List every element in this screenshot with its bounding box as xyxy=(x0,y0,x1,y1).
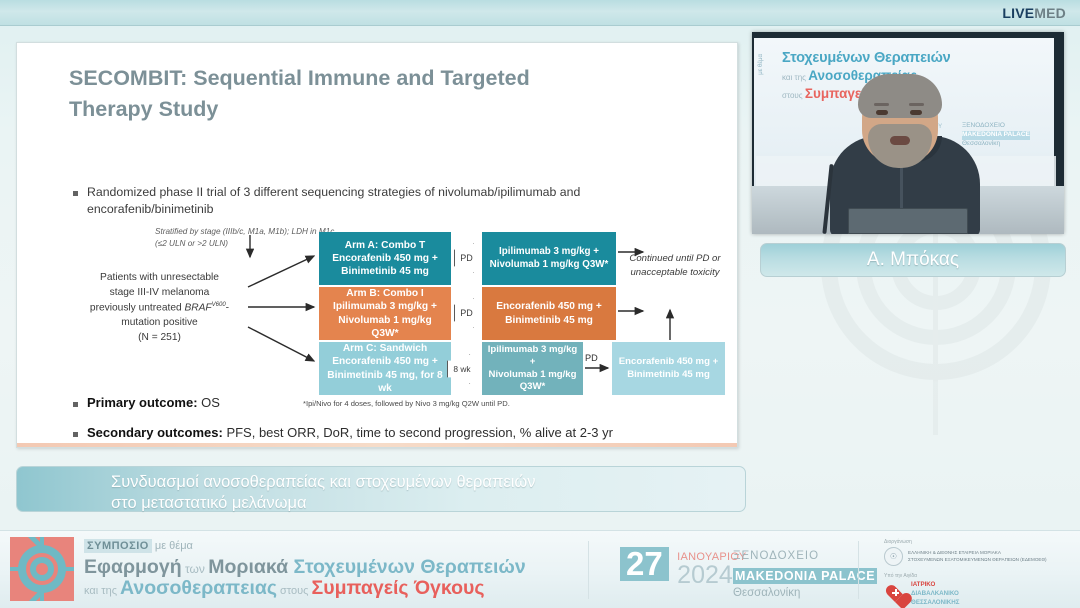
event-year: 2024 xyxy=(677,561,733,589)
livemed-logo-med: MED xyxy=(1034,5,1066,21)
venue-name: MAKEDONIA PALACE xyxy=(733,568,877,585)
event-venue-block: ΞΕΝΟΔΟΧΕΙΟ MAKEDONIA PALACE Θεσσαλονίκη xyxy=(733,549,877,602)
arm-c-third-line-box[interactable]: Encorafenib 450 mg + Binimetinib 45 mg xyxy=(612,342,725,395)
arm-b-second-line-1: Encorafenib 450 mg + xyxy=(496,301,602,312)
organizer-block: Διοργάνωση ☉ ΕΛΛΗΝΙΚΗ & ΔΙΕΘΝΗΣ ΕΤΑΙΡΕΙΑ… xyxy=(884,539,1047,566)
organizer-seal-icon: ☉ xyxy=(884,547,903,566)
symposium-title-moriaka: Μοριακά xyxy=(208,556,293,578)
slide-bullet-intro: Randomized phase II trial of 3 different… xyxy=(73,184,673,219)
arm-a-second-line-box[interactable]: Ipilimumab 3 mg/kg + Nivolumab 1 mg/kg Q… xyxy=(482,232,616,285)
aegis-name: ΙΑΤΡΙΚΟ ΔΙΑΒΑΛΚΑΝΙΚΟ ΘΕΣΣΑΛΟΝΙΚΗΣ xyxy=(911,581,959,608)
video-banner-line-3-prefix: στους xyxy=(782,91,805,100)
arm-c-transition-chevron: 8 wk xyxy=(447,354,483,384)
speaker-mouth xyxy=(890,136,910,145)
organizer-label: Διοργάνωση xyxy=(884,539,1047,545)
arm-c-third-line-2: Binimetinib 45 mg xyxy=(627,369,710,380)
arm-b-second-line-2: Binimetinib 45 mg xyxy=(505,315,593,326)
symposium-label: ΣΥΜΠΟΣΙΟ xyxy=(84,539,152,553)
symposium-label-row: ΣΥΜΠΟΣΙΟ με θέμα xyxy=(84,539,574,553)
primary-outcome-text: Primary outcome: OS xyxy=(87,395,220,410)
population-braf: BRAF xyxy=(184,302,211,313)
session-title-bar: Συνδυασμοί ανοσοθεραπείας και στοχευμένω… xyxy=(16,466,746,512)
video-banner-hotel-name: MAKEDONIA PALACE xyxy=(962,131,1030,140)
aegis-row: ΙΑΤΡΙΚΟ ΔΙΑΒΑΛΚΑΝΙΚΟ ΘΕΣΣΑΛΟΝΙΚΗΣ xyxy=(884,581,959,608)
population-line-1: Patients with unresectable xyxy=(100,272,219,283)
arm-c-drug-1: Encorafenib 450 mg + xyxy=(332,356,438,367)
slide-bullet-intro-text: Randomized phase II trial of 3 different… xyxy=(87,184,673,219)
arm-c-third-transition-label: PD xyxy=(585,353,598,363)
population-line-3b: - xyxy=(226,302,229,313)
speaker-eyebrow-right xyxy=(909,103,924,106)
speaker-name: Α. Μπόκας xyxy=(867,249,959,271)
secondary-outcome-row: Secondary outcomes: PFS, best ORR, DoR, … xyxy=(73,425,613,440)
arm-c-box[interactable]: Arm C: Sandwich Encorafenib 450 mg + Bin… xyxy=(319,342,451,395)
arm-a-second-line-1: Ipilimumab 3 mg/kg + xyxy=(499,246,599,257)
top-bar: LIVEMED xyxy=(0,0,1080,26)
arm-c-drug-2: Binimetinib 45 mg, for 8 wk xyxy=(327,370,442,394)
organizer-name-line-1: ΕΛΛΗΝΙΚΗ & ΔΙΕΘΝΗΣ ΕΤΑΙΡΕΙΑ ΜΟΡΙΑΚΑ xyxy=(908,550,1047,557)
secondary-outcome-text: Secondary outcomes: PFS, best ORR, DoR, … xyxy=(87,425,613,440)
cross-icon xyxy=(892,589,899,596)
arm-b-transition-chevron: PD xyxy=(454,298,485,328)
slide-footnote: *Ipi/Nivo for 4 doses, followed by Nivo … xyxy=(303,399,510,408)
presentation-slide[interactable]: SECOMBIT: Sequential Immune and Targeted… xyxy=(16,42,738,448)
population-line-5: (N = 251) xyxy=(138,332,181,343)
symposium-title-kai-tis: και της xyxy=(84,585,120,597)
symposium-title-line-2: και της Ανοσοθεραπειας στους Συμπαγείς Ό… xyxy=(84,578,574,599)
bullet-square-icon xyxy=(73,191,78,196)
speaker-video-feed[interactable]: με θέμα Στοχευμένων Θεραπειών και της Αν… xyxy=(752,32,1064,234)
organizer-row: ☉ ΕΛΛΗΝΙΚΗ & ΔΙΕΘΝΗΣ ΕΤΑΙΡΕΙΑ ΜΟΡΙΑΚΑ ΣΤ… xyxy=(884,547,1047,566)
arm-c-second-line-box[interactable]: Ipilimumab 3 mg/kg + Nivolumab 1 mg/kg Q… xyxy=(482,342,583,395)
arm-b-drug-2: Nivolumab 1 mg/kg Q3W* xyxy=(338,315,431,339)
aegis-name-line-3: ΘΕΣΣΑΛΟΝΙΚΗΣ xyxy=(911,599,959,608)
video-banner-hotel: ΞΕΝΟΔΟΧΕΙΟ MAKEDONIA PALACE Θεσσαλονίκη xyxy=(962,122,1030,148)
arm-a-second-line-2: Nivolumab 1 mg/kg Q3W* xyxy=(490,259,609,270)
speaker-eyebrow-left xyxy=(874,103,889,106)
symposium-title-block: ΣΥΜΠΟΣΙΟ με θέμα Εφαρμογή των Μοριακά Στ… xyxy=(84,539,574,599)
slide-bottom-accent-line xyxy=(17,443,738,447)
arm-b-drug-1: Ipilimumab 3 mg/kg + xyxy=(333,301,437,312)
venue-city: Θεσσαλονίκη xyxy=(733,586,877,602)
arm-c-name: Arm C: Sandwich xyxy=(343,343,427,354)
aegis-label: Υπό την Αιγίδα xyxy=(884,573,959,579)
secondary-outcome-label: Secondary outcomes: xyxy=(87,425,223,440)
speaker-laptop xyxy=(848,208,968,234)
arm-b-name: Arm B: Combo I xyxy=(346,288,424,299)
slide-title: SECOMBIT: Sequential Immune and Targeted… xyxy=(69,63,609,124)
aegis-block: Υπό την Αιγίδα ΙΑΤΡΙΚΟ ΔΙΑΒΑΛΚΑΝΙΚΟ ΘΕΣΣ… xyxy=(884,573,959,608)
arm-b-box[interactable]: Arm B: Combo I Ipilimumab 3 mg/kg + Nivo… xyxy=(319,287,451,340)
venue-label: ΞΕΝΟΔΟΧΕΙΟ xyxy=(733,549,877,565)
speaker-hair xyxy=(858,74,942,118)
symposium-emblem-icon xyxy=(10,537,74,601)
session-title-line-1: Συνδυασμοί ανοσοθεραπείας και στοχευμένω… xyxy=(111,472,731,493)
footer-divider-2 xyxy=(858,541,859,599)
symposium-title-sympageis: Συμπαγείς Όγκους xyxy=(312,577,485,599)
population-line-2: stage III-IV melanoma xyxy=(110,287,210,298)
organizer-name: ΕΛΛΗΝΙΚΗ & ΔΙΕΘΝΗΣ ΕΤΑΙΡΕΙΑ ΜΟΡΙΑΚΑ ΣΤΟΧ… xyxy=(908,550,1047,564)
video-banner-hotel-city: Θεσσαλονίκη xyxy=(962,140,1030,149)
secondary-outcome-value: PFS, best ORR, DoR, time to second progr… xyxy=(223,425,613,440)
speaker-eye-right xyxy=(910,110,922,115)
arm-c-second-line-2: Nivolumab 1 mg/kg xyxy=(489,369,577,380)
arm-a-transition-label: PD xyxy=(460,253,473,263)
footer-divider-1 xyxy=(588,541,589,599)
bullet-square-icon xyxy=(73,402,78,407)
arm-b-second-line-box[interactable]: Encorafenib 450 mg + Binimetinib 45 mg xyxy=(482,287,616,340)
arm-c-second-line-1: Ipilimumab 3 mg/kg + xyxy=(488,344,578,367)
arm-a-box[interactable]: Arm A: Combo T Encorafenib 450 mg + Bini… xyxy=(319,232,451,285)
symposium-title-line-1: Εφαρμογή των Μοριακά Στοχευμένων Θεραπει… xyxy=(84,557,574,578)
symposium-title-stoxeumenon: Στοχευμένων Θεραπειών xyxy=(293,556,525,578)
event-date-block: 27 ΙΑΝΟΥΑΡΙΟΥ 2024 xyxy=(620,547,747,588)
aegis-name-line-1: ΙΑΤΡΙΚΟ xyxy=(911,581,959,590)
session-title-text: Συνδυασμοί ανοσοθεραπείας και στοχευμένω… xyxy=(111,472,731,514)
arm-b-transition-label: PD xyxy=(460,308,473,318)
symposium-title-efarmogi: Εφαρμογή xyxy=(84,556,182,578)
symposium-title-stous: στους xyxy=(277,585,312,597)
event-day: 27 xyxy=(620,547,669,581)
arm-c-second-line-3: Q3W* xyxy=(520,381,546,392)
heart-cross-icon xyxy=(884,584,906,604)
population-line-3: previously untreated xyxy=(90,302,185,313)
emblem-center-dot xyxy=(36,563,48,575)
speaker-eye-left xyxy=(876,110,888,115)
population-braf-superscript: V600 xyxy=(212,302,226,308)
primary-outcome-row: Primary outcome: OS xyxy=(73,395,220,410)
symposium-label-suffix: με θέμα xyxy=(152,540,193,552)
continued-until-note: Continued until PD or unacceptable toxic… xyxy=(629,252,721,281)
stratification-note: Stratified by stage (IIIb/c, M1a, M1b); … xyxy=(155,226,340,251)
livemed-logo-live: LIVE xyxy=(1002,5,1034,21)
video-banner-line-2-prefix: και της xyxy=(782,73,808,82)
arm-a-drug-1: Encorafenib 450 mg + xyxy=(332,253,438,264)
aegis-name-line-2: ΔΙΑΒΑΛΚΑΝΙΚΟ xyxy=(911,590,959,599)
population-line-4: mutation positive xyxy=(121,317,197,328)
livemed-logo: LIVEMED xyxy=(1002,5,1066,21)
video-banner-line-1: Στοχευμένων Θεραπειών xyxy=(782,50,1052,66)
symposium-title-anosotherapeias: Ανοσοθεραπειας xyxy=(120,577,277,599)
symposium-title-ton: των xyxy=(182,562,209,576)
arm-c-third-line-1: Encorafenib 450 mg + xyxy=(619,356,718,367)
primary-outcome-label: Primary outcome: xyxy=(87,395,198,410)
population-description: Patients with unresectable stage III-IV … xyxy=(77,271,242,345)
arm-a-drug-2: Binimetinib 45 mg xyxy=(341,266,429,277)
session-title-line-2: στο μεταστατικό μελάνωμα xyxy=(111,493,731,514)
primary-outcome-value: OS xyxy=(198,395,220,410)
video-banner-hotel-label: ΞΕΝΟΔΟΧΕΙΟ xyxy=(962,122,1030,131)
bullet-square-icon xyxy=(73,432,78,437)
arm-a-name: Arm A: Combo T xyxy=(345,240,426,251)
arm-c-transition-label: 8 wk xyxy=(453,364,470,374)
video-banner-side-text: με θέμα xyxy=(758,54,764,75)
event-footer: ΣΥΜΠΟΣΙΟ με θέμα Εφαρμογή των Μοριακά Στ… xyxy=(0,530,1080,608)
arm-a-transition-chevron: PD xyxy=(454,243,485,273)
speaker-name-plate: Α. Μπόκας xyxy=(760,243,1066,277)
organizer-name-line-2: ΣΤΟΧΕΥΜΕΝΩΝ ΕΞΑΤΟΜΙΚΕΥΜΕΝΩΝ ΘΕΡΑΠΕΙΩΝ (Ε… xyxy=(908,557,1047,564)
